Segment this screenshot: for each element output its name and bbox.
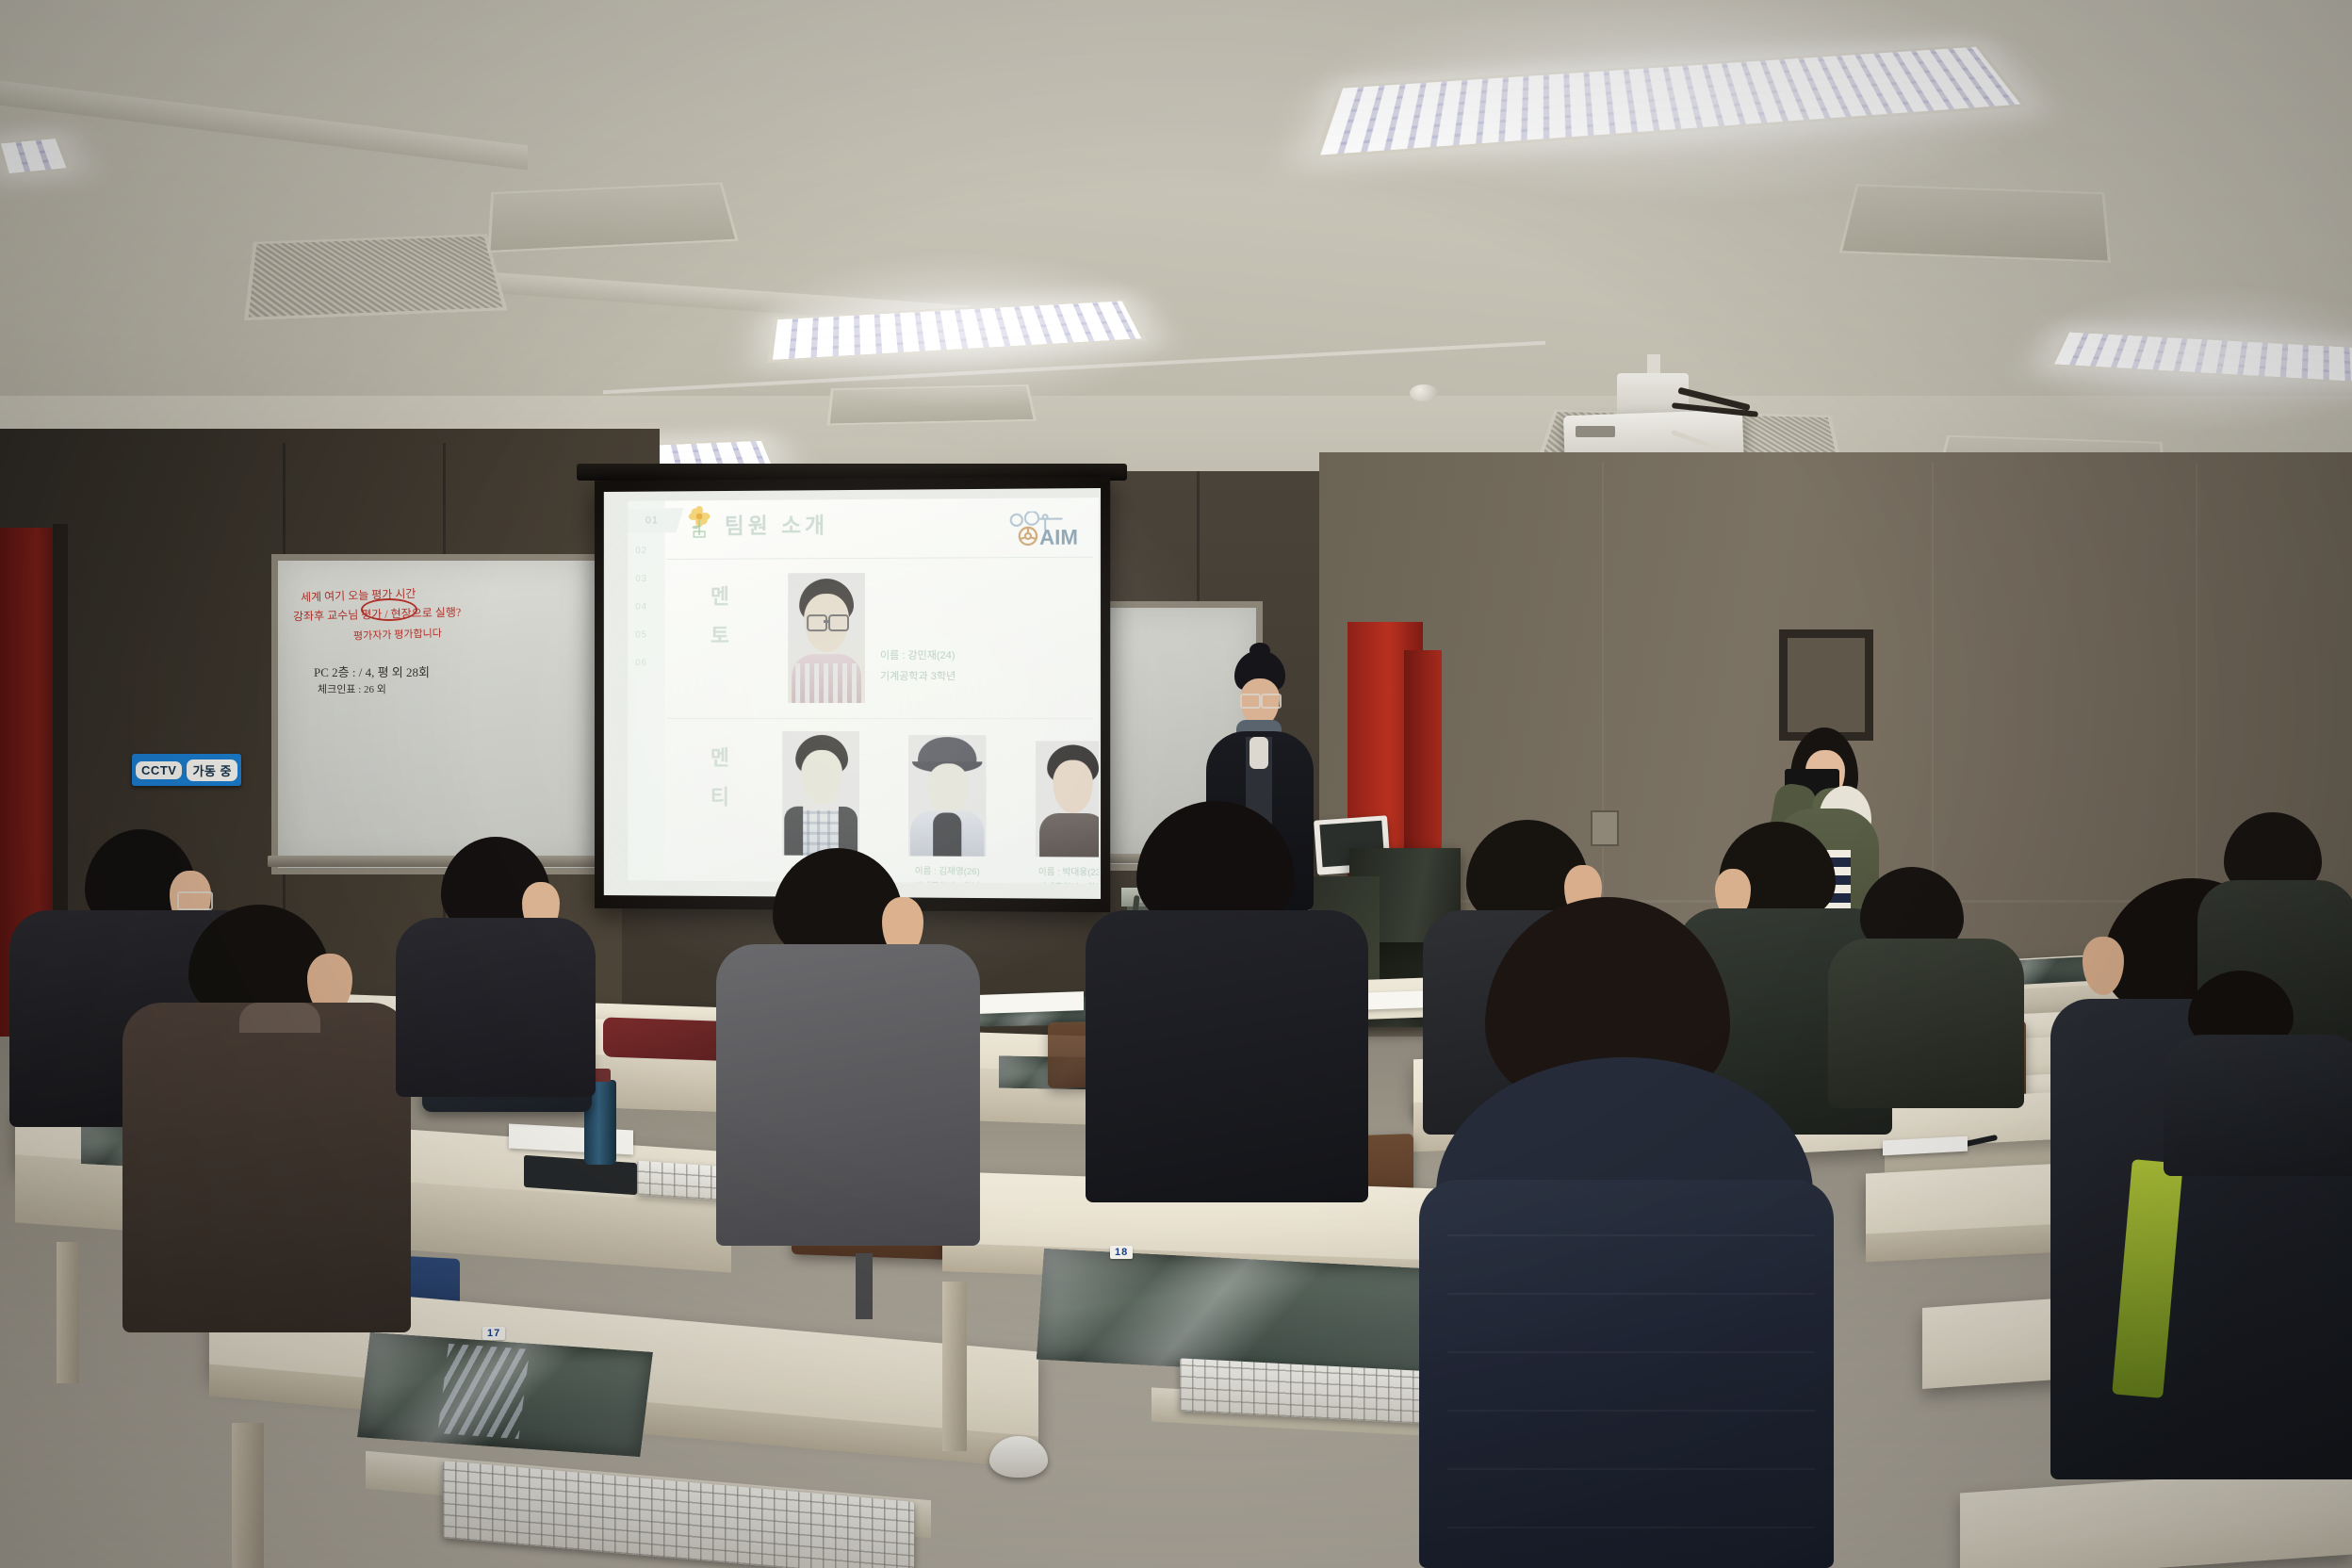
presenter-beanie-tip: [1249, 643, 1270, 658]
ceiling-air-vent-1: [244, 234, 508, 320]
whiteboard-line-3: 평가자가 평가합니다: [353, 625, 442, 643]
audience-person-2: [122, 905, 396, 1338]
a4-hair: [773, 848, 903, 957]
desk-near-left-leg: [232, 1423, 264, 1568]
ceiling-light-7: [0, 136, 73, 176]
classroom-photo: CCTV 가동 중 세계 여기 오늘 평가 시간 강좌후 교수님 평가 / 현장…: [0, 0, 2352, 1568]
audience-person-4: [716, 848, 971, 1244]
cctv-sign: CCTV 가동 중: [132, 754, 241, 786]
a4-sweater: [716, 944, 980, 1246]
cctv-sign-label-left: CCTV: [136, 761, 182, 779]
a11-jacket: [1828, 939, 2024, 1108]
audience-person-5: [1086, 801, 1359, 1197]
a3-jacket: [396, 918, 596, 1097]
cctv-sign-label-right: 가동 중: [187, 759, 237, 781]
ceiling-access-panel-1: [487, 183, 738, 253]
audience-person-12: [2164, 971, 2352, 1168]
computer-mouse[interactable]: [989, 1436, 1048, 1478]
a12-jacket: [2164, 1035, 2352, 1176]
a2-sweater: [122, 1003, 411, 1332]
smoke-detector: [1410, 384, 1438, 401]
a5-hair: [1136, 801, 1295, 927]
monitor-reflection-lights: [437, 1344, 530, 1439]
a5-jacket: [1086, 910, 1368, 1202]
a8-puffer-quilt: [1447, 1208, 1815, 1528]
desk-number-label-1: 17: [482, 1327, 505, 1340]
light-glow-2: [744, 250, 1178, 410]
whiteboard-line-4: PC 2층 : / 4, 평 외 28회: [314, 662, 430, 680]
projector-lens: [1576, 426, 1615, 437]
whiteboard-line-5: 체크인표 : 26 외: [318, 681, 386, 696]
whiteboard-circled-note: [361, 598, 417, 621]
audience-person-3: [396, 837, 594, 1101]
a2-hair: [188, 905, 330, 1018]
wall-picture-frame: [1779, 629, 1873, 741]
a2-collar: [239, 1003, 320, 1033]
desk-near-center-leg: [942, 1282, 967, 1451]
ceiling-access-panel-4: [1839, 184, 2112, 262]
desk-front-left-leg: [57, 1242, 79, 1383]
desk-monitor-well-near-left: [357, 1332, 653, 1457]
audience-person-11: [1828, 867, 2017, 1102]
presenter-shirt-white: [1249, 737, 1268, 769]
presenter-glasses-right: [1261, 694, 1282, 709]
chair-wood-1-post: [856, 1253, 873, 1319]
presenter-glasses-left: [1240, 694, 1261, 709]
paper-sheet-1[interactable]: [980, 991, 1084, 1014]
audience-person-8: [1419, 897, 1834, 1568]
desk-number-label-2: 18: [1110, 1246, 1133, 1259]
